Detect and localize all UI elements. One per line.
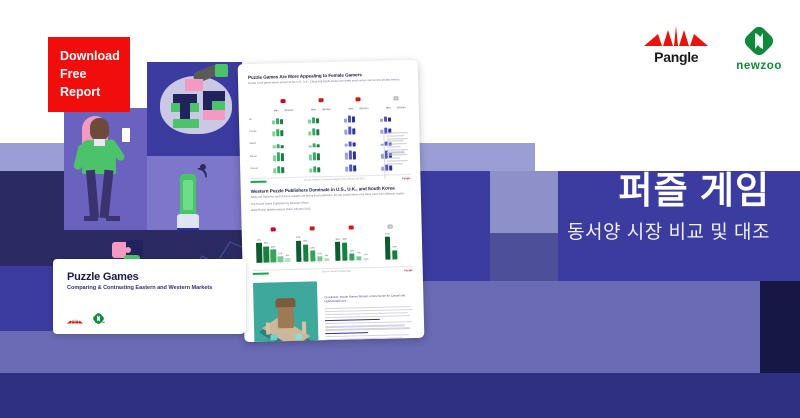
badge-line-1: Download [60,47,130,65]
matrix-bar [353,143,356,147]
matrix-row-label: Merge [250,155,267,158]
block-navy-top [173,94,197,103]
matrix-bar-group [302,126,327,136]
bar: 8% [285,258,291,262]
bar: 39% [335,242,341,261]
matrix-bar [353,151,356,159]
col-women: Women [285,109,294,112]
bar: 6% [324,258,330,261]
bar-value-label: 12% [278,253,284,255]
bar: 9% [356,256,362,260]
phone-screen-shape [183,180,193,210]
matrix-bar [313,166,316,172]
block-green-2 [190,103,199,112]
page-title: 퍼즐 게임 [440,170,770,213]
bar: 44% [296,241,302,262]
matrix-bar [272,120,275,124]
col-women: Women [322,108,331,111]
matrix-bar [277,129,280,136]
bar-category-label: • [356,261,362,263]
bar-category-label: • [385,260,391,262]
matrix-bar [344,129,347,134]
bar: 10% [317,256,323,261]
bar: 41% [256,243,262,263]
bar-value-label: 14% [349,250,355,252]
bar-category-label: • [349,261,355,263]
signal-dot-icon [200,164,206,170]
leg-left-shape [86,170,99,219]
matrix-bar [309,145,312,148]
shoe-right-shape [106,216,120,221]
matrix-bar [281,130,284,136]
newzoo-logo: newzoo [736,24,782,72]
matrix-bar [349,150,352,159]
page-subtitle: 동서양 시장 비교 및 대조 [440,221,770,246]
matrix-bar [282,167,285,173]
matrix-bar-group [302,151,327,161]
bar-category-label: • [310,262,316,264]
bar: 38% [342,242,348,260]
bar-track: 39%38%14%9%5% [333,236,372,261]
matrix-bar [308,131,311,136]
doc-section3-heading: Conclusion: Puzzle Games Remain a Core G… [324,293,413,304]
block-navy-stem [180,103,190,119]
bar-value-label: 19% [392,247,398,249]
col-men: Men [311,108,316,111]
matrix-row-label: All [249,119,266,122]
bar: 36% [303,244,309,261]
cover-pangle-logo: Pangle [67,312,83,325]
matrix-bar [277,166,280,173]
col-men: Men [274,109,279,112]
matrix-bar-group [337,113,362,123]
matrix-bar [277,144,280,149]
matrix-bar [349,142,352,147]
hero-text: 퍼즐 게임 동서양 시장 비교 및 대조 [440,170,770,245]
block-navy-2 [203,91,225,101]
bar-category-label: • [342,262,348,264]
matrix-bar [273,155,276,161]
pangle-logo: Pangle [644,24,708,65]
flag-cn-icon [356,97,361,101]
iso-roof-shape [275,298,295,307]
doc-side-note [383,132,410,179]
bar-value-label: 26% [270,246,276,248]
newzoo-wordmark: newzoo [736,60,782,72]
matrix-bar [313,152,316,160]
bar-value-label: 10% [317,253,323,255]
iso-prop-left [270,334,277,340]
cover-logos: Pangle newzoo [67,312,108,325]
bar: 47% [385,237,391,260]
bar-category-label: • [264,263,270,265]
block-navy-3 [203,101,212,110]
block-pink-2 [203,110,225,120]
doc-publisher-bar-charts: 41%34%26%12%8%•••••44%36%22%10%6%•••••39… [251,215,412,266]
flag-uk-icon [318,98,323,102]
doc-body-paragraph [325,306,415,342]
badge-line-2: Free [60,65,130,83]
col-men: Men [348,107,353,110]
flag-cell [270,90,296,109]
iso-castle-shape [278,304,295,328]
bar-category-label: • [335,262,341,264]
flag-cell [308,89,334,108]
matrix-bar [272,132,275,137]
shoe-left-shape [84,216,98,221]
leg-right-shape [100,170,114,219]
tetris-blocks-illustration [147,62,242,156]
bar-value-label: 36% [303,241,309,243]
matrix-bar [313,143,316,147]
matrix-bar-group [338,150,363,160]
bar-category-label: • [296,263,302,265]
footer-accent-bar [250,181,266,183]
flag-kr-icon [393,96,398,100]
matrix-bar-group [338,138,363,148]
flag-icon [293,217,331,236]
matrix-bar [348,127,351,135]
footer-accent-bar [253,273,269,275]
matrix-bar [349,164,352,171]
matrix-bar-group [266,127,291,137]
pangle-mark-icon [644,24,708,48]
cover-title: Puzzle Games [67,271,246,283]
matrix-bar [344,144,347,147]
sleeve-shape [215,64,228,77]
bar-value-label: 38% [342,239,348,241]
matrix-bar [273,169,276,173]
puzzle-knob-shape [125,247,131,253]
bar-value-label: 6% [324,255,330,257]
publisher-bar-group: 41%34%26%12%8%••••• [253,218,292,266]
bar-category-label: • [324,262,330,264]
matrix-bar [345,167,348,172]
isometric-scene-illustration [253,281,319,342]
block-pink-1 [185,79,203,91]
matrix-bar-group [302,139,327,149]
matrix-row-label: Casual [250,167,267,170]
matrix-bar [345,153,348,159]
matrix-bar [316,119,319,124]
bar-value-label: 47% [385,234,391,236]
matrix-bar [317,153,320,160]
matrix-bar [348,116,351,123]
bg-bottom-band [0,373,800,418]
bar-value-label: 41% [256,240,262,242]
doc-section3-text: Conclusion: Puzzle Games Remain a Core G… [324,279,415,342]
bar-track: 41%34%26%12%8% [254,238,293,263]
flag-us-icon [281,99,286,103]
matrix-bar-group [266,152,291,162]
bar-value-label: 8% [285,255,291,257]
promo-banner: Pangle newzoo Download Free Report [0,0,800,418]
bar-category-label: • [303,263,309,265]
flag-icon [253,218,291,237]
badge-line-3: Report [60,83,130,101]
doc-section2-footer: Source: Newzoo Game Data Pangle [253,266,413,276]
matrix-row-label: Match [250,143,267,146]
brand-logos: Pangle newzoo [644,24,782,72]
matrix-bar-group [301,114,326,124]
head-shape [90,118,109,141]
matrix-bar [312,118,315,124]
flag-icon [371,215,409,234]
matrix-bar-group [266,115,291,125]
pangle-wordmark: Pangle [654,49,698,65]
bar-category-label: • [257,264,263,266]
matrix-bar [309,155,312,160]
bar-labels: ••••• [294,262,332,265]
matrix-bar [277,152,280,161]
col-women: Women [397,106,406,109]
collar-shape [94,139,105,146]
bar-value-label: 44% [295,237,301,239]
bar-track: 47%19% [372,235,411,260]
doc-section3: Conclusion: Puzzle Games Remain a Core G… [253,279,415,342]
matrix-bar-group [373,112,398,122]
bar-category-label: • [278,263,284,265]
iso-prop-right [295,334,302,340]
bar-category-label: • [317,262,323,264]
download-free-report-badge[interactable]: Download Free Report [48,37,130,112]
matrix-bar [276,118,279,124]
bar-value-label: 5% [363,254,369,256]
publisher-bar-group: 44%36%22%10%6%••••• [293,217,332,265]
matrix-bar [281,154,284,161]
woman-with-phone-illustration [64,108,147,230]
bar: 22% [310,251,316,262]
col-women: Women [359,107,368,110]
col-men: Men [386,107,391,110]
bar: 34% [263,246,269,262]
footer-source-note: Source: Newzoo Consumer Insights | Data … [304,178,365,181]
footer-source-note: Source: Newzoo Game Data [322,271,351,274]
iso-tower-right [302,322,306,334]
matrix-bar [312,129,315,136]
publisher-bar-group: 39%38%14%9%5%••••• [332,216,371,264]
matrix-bar-group [266,139,291,149]
cover-subtitle: Comparing & Contrasting Eastern and West… [67,285,246,291]
bar: 14% [349,254,355,261]
block-green-3 [173,119,199,128]
newzoo-mark-icon [92,312,108,320]
phone-icon [122,128,130,142]
bar-category-label: • [285,263,291,265]
report-cover-card[interactable]: Puzzle Games Comparing & Contrasting Eas… [53,259,246,334]
bar-value-label: 22% [310,247,316,249]
bar-category-label: • [271,263,277,265]
matrix-bar [281,145,284,149]
publisher-bar-group: 47%19%•• [371,215,410,263]
bar: 12% [278,256,284,262]
cover-newzoo-logo: newzoo [92,312,108,325]
iso-tower-left [266,322,270,334]
matrix-bar [317,144,320,147]
doc-section2: Western Puzzle Publishers Dominate in U.… [251,185,413,276]
matrix-bar [353,165,356,171]
matrix-row: All [249,112,409,125]
bar-value-label: 39% [335,239,341,241]
bar-value-label: 9% [356,253,362,255]
matrix-bar [280,119,283,124]
matrix-bar [352,117,355,123]
block-green-4 [212,101,225,110]
bar-labels: ••••• [333,261,371,264]
matrix-row-label: Puzzle [249,131,266,134]
matrix-bar [388,117,391,121]
bar: 26% [270,250,276,263]
matrix-bar-group [338,162,363,172]
bar: 19% [392,250,398,259]
report-page-preview[interactable]: Puzzle Games Are More Appealing to Femal… [238,60,425,342]
bar-labels: ••••• [255,263,293,266]
matrix-bar [384,116,387,121]
matrix-bar [352,128,355,135]
matrix-bar [308,120,311,124]
bar: 5% [363,258,369,261]
flag-icon [332,216,370,235]
bar-value-label: 34% [263,243,269,245]
matrix-bar [309,168,312,172]
newzoo-mark-icon [742,24,776,58]
matrix-bar [273,146,276,149]
matrix-bar-group [337,125,362,135]
block-green-1 [171,103,180,112]
pangle-mark-icon [67,312,83,320]
bar-category-label: • [363,261,369,263]
matrix-bar [380,118,383,121]
bar-labels: •• [372,260,410,263]
footer-pangle-logo: Pangle [404,269,413,272]
flag-cell [382,87,408,106]
matrix-bar-group [267,164,292,174]
flag-cell [345,88,371,107]
matrix-bar [317,130,320,136]
bar-category-label: • [392,260,398,262]
matrix-bar-group [303,163,328,173]
matrix-bar [344,118,347,122]
matrix-bar [317,167,320,172]
bar-track: 44%36%22%10%6% [293,237,332,262]
